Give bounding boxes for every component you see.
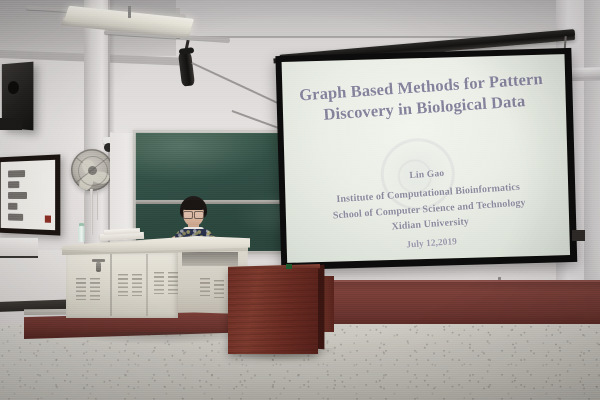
lectern-panel-divider <box>146 254 148 316</box>
wall-cabinet-left <box>0 238 38 258</box>
screen-border: Graph Based Methods for Pattern Discover… <box>275 48 577 270</box>
fan-pull-cord <box>84 190 85 226</box>
lectern-vent <box>168 272 178 294</box>
framed-calligraphy-artwork <box>0 154 60 235</box>
screen-surface: Graph Based Methods for Pattern Discover… <box>282 54 571 263</box>
lectern-vent <box>76 278 86 300</box>
blackboard-glare <box>136 133 276 183</box>
calligraphy-glyph <box>8 213 23 220</box>
light-stem <box>128 6 131 18</box>
lectern-panel-divider <box>110 254 112 316</box>
wall-speaker-bottom <box>0 118 22 130</box>
lectern-vent <box>154 272 164 294</box>
wooden-podium <box>228 268 318 354</box>
calligraphy-glyph <box>8 202 17 209</box>
lectern-vent <box>132 274 142 296</box>
slide-title: Graph Based Methods for Pattern Discover… <box>282 67 565 128</box>
calligraphy-glyph <box>8 181 19 188</box>
calligraphy-strokes <box>4 164 45 225</box>
slide-body: Lin Gao Institute of Computational Bioin… <box>285 161 570 259</box>
lectern-vent <box>118 274 128 296</box>
podium-indicator-light <box>286 264 292 269</box>
presenter-fringe <box>181 200 206 210</box>
fan-pull-cord <box>97 190 98 220</box>
water-bottle-icon <box>78 226 85 242</box>
projection-screen: Graph Based Methods for Pattern Discover… <box>269 16 584 279</box>
calligraphy-glyph <box>8 170 25 177</box>
lecture-hall-photo: Graph Based Methods for Pattern Discover… <box>0 0 600 400</box>
calligraphy-seal <box>45 215 51 222</box>
lectern-vent <box>214 280 224 298</box>
lectern-shelf-recess <box>182 252 238 266</box>
lectern-vent <box>200 278 210 296</box>
calligraphy-glyph <box>8 192 27 199</box>
glasses-icon <box>183 211 204 217</box>
fan-hub <box>88 166 97 175</box>
fan-pole <box>90 189 93 235</box>
lectern-vent <box>90 278 100 300</box>
wall-fan-icon <box>71 149 113 191</box>
slide-content: Graph Based Methods for Pattern Discover… <box>282 54 571 263</box>
lectern-lock-icon[interactable] <box>96 262 101 272</box>
wainscot-panel <box>330 282 600 328</box>
speaker-cone <box>8 81 19 94</box>
wall-socket-dark <box>572 230 585 241</box>
